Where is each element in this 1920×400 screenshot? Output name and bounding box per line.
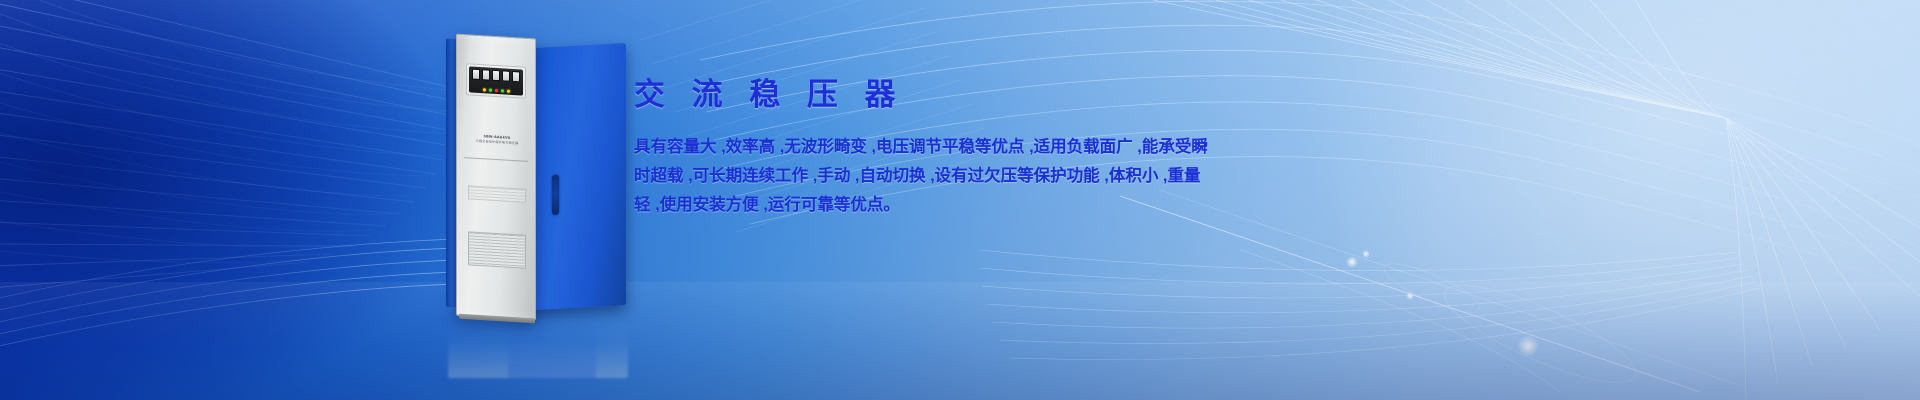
description-line-2: 时超载 ,可长期连续工作 ,手动 ,自动切换 ,设有过欠压等保护功能 ,体积小 … <box>634 162 1274 191</box>
indicator-lamp-row <box>471 88 521 94</box>
description-line-1: 具有容量大 ,效率高 ,无波形畸变 ,电压调节平稳等优点 ,适用负载面广 ,能承… <box>634 133 1274 162</box>
indicator-lamp-green <box>489 89 492 92</box>
banner-headline: 交 流 稳 压 器 <box>634 76 1274 113</box>
meter-row <box>471 69 521 83</box>
panel-meter <box>472 69 480 80</box>
banner-copy: 交 流 稳 压 器 具有容量大 ,效率高 ,无波形畸变 ,电压调节平稳等优点 ,… <box>634 76 1274 220</box>
panel-meter <box>492 70 500 81</box>
product-reflection <box>448 312 628 378</box>
right-glow <box>1280 0 1920 400</box>
cabinet-nameplate: SBW-ΔΔΔkVA 三相全自动补偿式电力稳压器 <box>468 133 526 146</box>
indicator-lamp-green <box>501 89 504 92</box>
panel-meter <box>482 69 490 80</box>
cabinet-front-panel: SBW-ΔΔΔkVA 三相全自动补偿式电力稳压器 <box>456 34 536 321</box>
panel-meter <box>512 71 520 82</box>
panel-divider <box>464 157 528 162</box>
description-line-3: 轻 ,使用安装方便 ,运行可靠等优点。 <box>634 191 1274 220</box>
indicator-lamp-yellow <box>483 88 486 91</box>
product-image-voltage-stabilizer: SBW-ΔΔΔkVA 三相全自动补偿式电力稳压器 <box>438 36 634 316</box>
cabinet-door-handle <box>552 175 559 215</box>
banner-description: 具有容量大 ,效率高 ,无波形畸变 ,电压调节平稳等优点 ,适用负载面广 ,能承… <box>634 133 1274 220</box>
meter-panel <box>469 66 523 95</box>
product-banner: SBW-ΔΔΔkVA 三相全自动补偿式电力稳压器 交 流 稳 压 器 具有容量大… <box>0 0 1920 400</box>
indicator-lamp-red <box>495 89 498 92</box>
cabinet-vent-lower <box>468 231 526 268</box>
indicator-lamp-yellow <box>507 90 510 93</box>
floor-shading <box>0 282 1920 400</box>
cabinet-vent-upper <box>468 185 526 202</box>
panel-meter <box>502 70 510 81</box>
